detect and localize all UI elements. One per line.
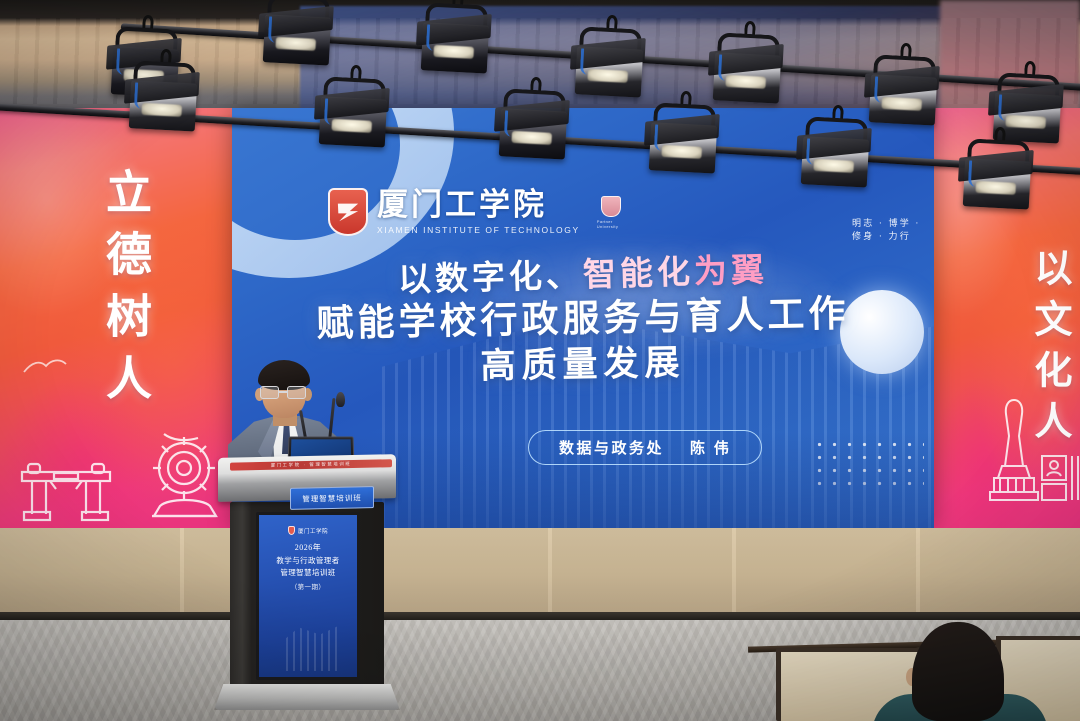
podium-panel-logo: 厦门工学院 — [282, 526, 334, 535]
stage-spotlight — [866, 54, 944, 144]
podium-panel-line2: 管理智慧培训班 — [259, 567, 357, 578]
gate-archway-icon — [14, 450, 118, 522]
podium-panel-year: 2026年 — [259, 542, 357, 553]
stage-scene: 立德树人 以文化人 — [0, 0, 1080, 721]
podium-panel-logo-text: 厦门工学院 — [298, 527, 328, 535]
podium-badge-text: 管理智慧培训班 — [302, 492, 362, 504]
stage-spotlight — [572, 26, 650, 116]
institution-logo: 厦门工学院 XIAMEN INSTITUTE OF TECHNOLOGY Par… — [328, 188, 625, 236]
title-line-1-a: 以数字化、 — [398, 258, 584, 299]
institution-name-en: XIAMEN INSTITUTE OF TECHNOLOGY — [377, 225, 580, 235]
stage-spotlight — [496, 88, 574, 178]
school-motto: 明志 · 博学 · 修身 · 力行 — [852, 216, 934, 242]
stage-wall-base — [0, 528, 1080, 614]
podium-panel-title: 2026年 教学与行政管理者 管理智慧培训班 （第一期） — [259, 542, 357, 591]
microphone-head-icon — [336, 392, 345, 407]
left-banner-text: 立德树人 — [92, 168, 158, 416]
podium-shield-icon — [288, 526, 295, 535]
title-line-1-b: 智能化 — [582, 255, 694, 294]
institution-name-cn: 厦门工学院 — [377, 189, 580, 220]
stage-spotlight — [798, 116, 876, 206]
podium-base — [214, 684, 400, 710]
title-line-1-c: 为翼 — [693, 253, 768, 291]
shield-crest-icon — [328, 188, 368, 236]
podium-panel-line3: （第一期） — [259, 581, 357, 591]
stage-spotlight — [418, 2, 496, 92]
speaker-credit-pill: 数据与政务处陈 伟 — [528, 430, 762, 465]
stage-spotlight — [646, 102, 724, 192]
speaker-department: 数据与政务处 — [559, 441, 664, 457]
stage-spotlight — [960, 138, 1038, 228]
partner-logo-icon: Partner University — [597, 195, 625, 229]
statue-column-icon — [988, 396, 1040, 504]
podium-badge: 管理智慧培训班 — [290, 486, 374, 510]
stage-spotlight — [316, 76, 394, 166]
podium-panel-line1: 教学与行政管理者 — [259, 555, 357, 566]
podium-stripe: 厦门工学院 · 管理智慧培训班 — [230, 459, 392, 470]
podium-display-panel: 厦门工学院 2026年 教学与行政管理者 管理智慧培训班 （第一期） — [256, 512, 360, 680]
bookshelf-icon — [1040, 452, 1080, 504]
podium: 厦门工学院 · 管理智慧培训班 管理智慧培训班 厦门工学院 2026年 教学与行… — [214, 456, 400, 711]
bird-icon — [22, 354, 68, 380]
light-cable — [116, 48, 129, 75]
stage-spotlight — [126, 60, 204, 150]
stage-spotlight — [260, 0, 338, 84]
speaker-name: 陈 伟 — [690, 441, 731, 457]
glasses-icon — [260, 386, 308, 399]
partner-logo-label: Partner University — [597, 219, 625, 229]
podium-stripe-text: 厦门工学院 · 管理智慧培训班 — [230, 459, 392, 470]
podium-panel-graphic — [279, 619, 345, 671]
audience-member-head — [912, 622, 1004, 721]
crest-mark-icon — [337, 201, 359, 223]
